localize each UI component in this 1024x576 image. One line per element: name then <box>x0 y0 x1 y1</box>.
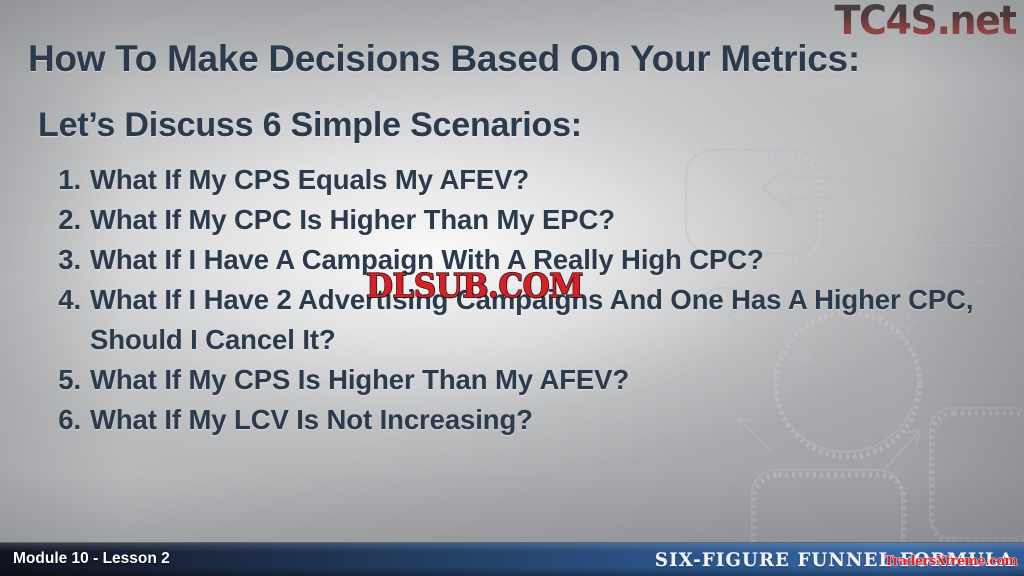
list-item-number: 2. <box>56 200 90 240</box>
list-item-number: 1. <box>56 160 90 200</box>
list-item-label: What If My CPS Equals My AFEV? <box>90 160 986 200</box>
footer-bar: Module 10 - Lesson 2 SIX-FIGURE FUNNEL F… <box>0 542 1024 576</box>
list-item-number: 3. <box>56 240 90 280</box>
list-item-number: 6. <box>56 400 90 440</box>
list-item-number: 4. <box>56 280 90 320</box>
list-item-label: What If My CPS Is Higher Than My AFEV? <box>90 360 986 400</box>
list-item-number: 5. <box>56 360 90 400</box>
lesson-label: Module 10 - Lesson 2 <box>13 550 170 568</box>
page-title: How To Make Decisions Based On Your Metr… <box>28 38 1008 80</box>
list-item: 2. What If My CPC Is Higher Than My EPC? <box>56 200 986 240</box>
dlsub-watermark: DLSUB.COM <box>366 266 583 305</box>
list-item: 1. What If My CPS Equals My AFEV? <box>56 160 986 200</box>
list-item: 6. What If My LCV Is Not Increasing? <box>56 400 986 440</box>
list-item: 5. What If My CPS Is Higher Than My AFEV… <box>56 360 986 400</box>
list-item-label: What If My LCV Is Not Increasing? <box>90 400 986 440</box>
list-item-label: What If My CPC Is Higher Than My EPC? <box>90 200 986 240</box>
page-subtitle: Let’s Discuss 6 Simple Scenarios: <box>38 106 582 145</box>
tradersxtreme-watermark: TradersXtreme.com <box>885 554 1018 569</box>
slide-root: TC4S.net How To Make Decisions Based On … <box>0 0 1024 576</box>
